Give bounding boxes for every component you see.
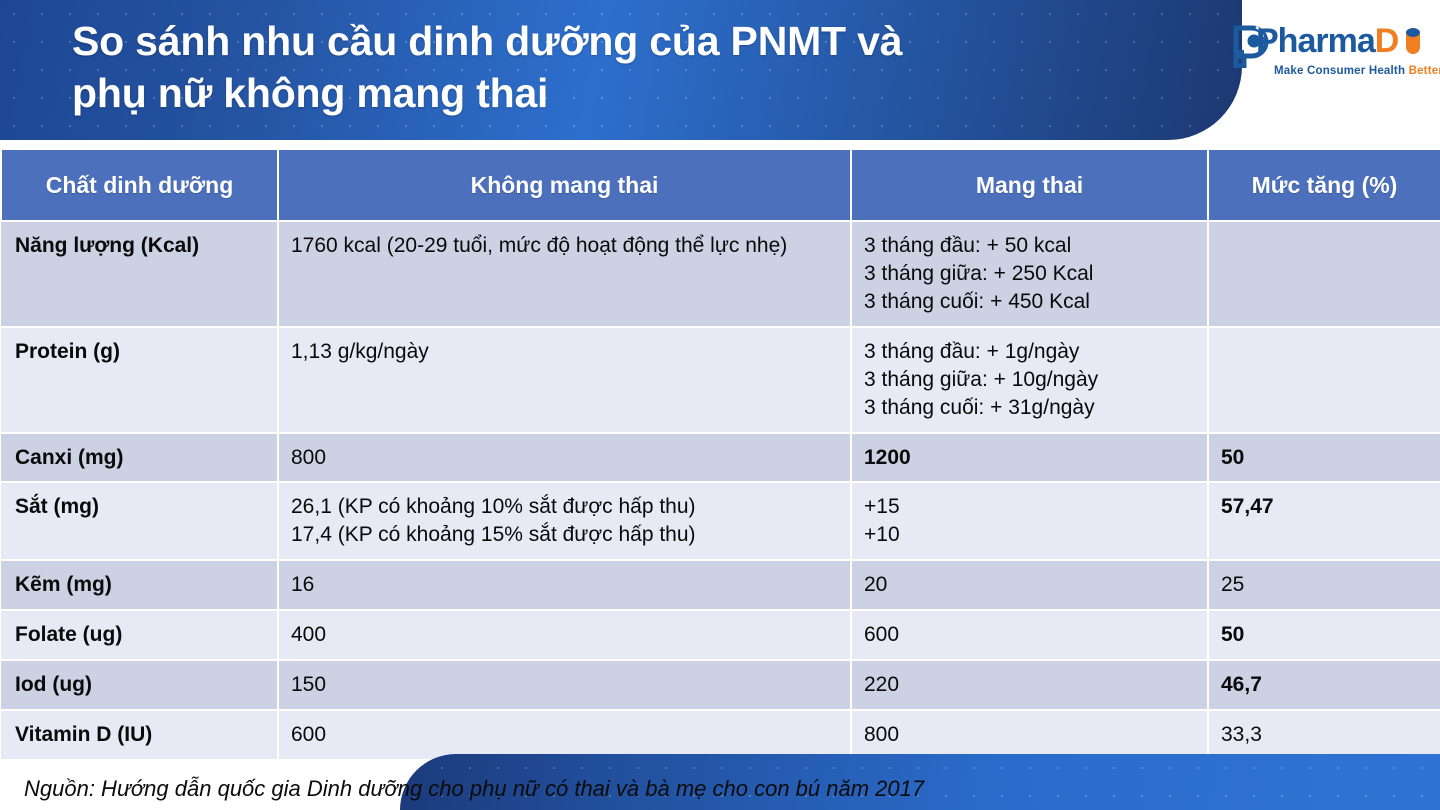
cell-pregnant: 3 tháng đầu: + 1g/ngày3 tháng giữa: + 10… [851, 327, 1208, 433]
table-row: Iod (ug)15022046,7 [1, 660, 1440, 710]
nutrition-comparison-table: Chất dinh dưỡng Không mang thai Mang tha… [0, 148, 1440, 761]
cell-nutrient-name: Sắt (mg) [1, 482, 278, 560]
logo-tagline: Make Consumer Health Better [1274, 65, 1440, 77]
cell-pregnant: +15+10 [851, 482, 1208, 560]
cell-not-pregnant: 600 [278, 710, 851, 760]
logo-tagline-a: Make Consumer Health [1274, 65, 1409, 77]
table-row: Protein (g)1,13 g/kg/ngày3 tháng đầu: + … [1, 327, 1440, 433]
table-row: Kẽm (mg)162025 [1, 560, 1440, 610]
capsule-icon [1404, 26, 1422, 56]
table-row: Năng lượng (Kcal)1760 kcal (20-29 tuổi, … [1, 221, 1440, 327]
logo-word-pharma: Pharma [1256, 22, 1375, 60]
logo-tagline-b: Better [1409, 65, 1440, 77]
cell-pregnant: 600 [851, 610, 1208, 660]
cell-nutrient-name: Năng lượng (Kcal) [1, 221, 278, 327]
cell-increase: 25 [1208, 560, 1440, 610]
cell-not-pregnant: 400 [278, 610, 851, 660]
table-row: Folate (ug)40060050 [1, 610, 1440, 660]
cell-increase: 57,47 [1208, 482, 1440, 560]
cell-nutrient-name: Vitamin D (IU) [1, 710, 278, 760]
cell-not-pregnant: 26,1 (KP có khoảng 10% sắt được hấp thu)… [278, 482, 851, 560]
table-header-row: Chất dinh dưỡng Không mang thai Mang tha… [1, 149, 1440, 221]
cell-pregnant: 1200 [851, 433, 1208, 483]
cell-not-pregnant: 16 [278, 560, 851, 610]
cell-pregnant: 20 [851, 560, 1208, 610]
cell-nutrient-name: Folate (ug) [1, 610, 278, 660]
logo-wordmark: PharmaD [1256, 24, 1398, 58]
cell-not-pregnant: 800 [278, 433, 851, 483]
table-row: Canxi (mg)800120050 [1, 433, 1440, 483]
cell-pregnant: 800 [851, 710, 1208, 760]
brand-logo: PharmaD Make Consumer Health Better [1230, 24, 1418, 98]
column-header-pregnant: Mang thai [851, 149, 1208, 221]
cell-increase [1208, 221, 1440, 327]
cell-increase: 50 [1208, 610, 1440, 660]
cell-not-pregnant: 1760 kcal (20-29 tuổi, mức độ hoạt động … [278, 221, 851, 327]
column-header-increase: Mức tăng (%) [1208, 149, 1440, 221]
logo-word-d: D [1375, 22, 1399, 60]
cell-nutrient-name: Iod (ug) [1, 660, 278, 710]
cell-increase: 33,3 [1208, 710, 1440, 760]
column-header-not-pregnant: Không mang thai [278, 149, 851, 221]
source-note: Nguồn: Hướng dẫn quốc gia Dinh dưỡng cho… [24, 776, 924, 802]
cell-nutrient-name: Canxi (mg) [1, 433, 278, 483]
cell-pregnant: 220 [851, 660, 1208, 710]
cell-increase [1208, 327, 1440, 433]
cell-nutrient-name: Protein (g) [1, 327, 278, 433]
table-row: Sắt (mg)26,1 (KP có khoảng 10% sắt được … [1, 482, 1440, 560]
page-title: So sánh nhu cầu dinh dưỡng của PNMT và p… [72, 16, 1202, 119]
table-body: Năng lượng (Kcal)1760 kcal (20-29 tuổi, … [1, 221, 1440, 760]
title-banner: So sánh nhu cầu dinh dưỡng của PNMT và p… [0, 0, 1242, 140]
column-header-nutrient: Chất dinh dưỡng [1, 149, 278, 221]
cell-nutrient-name: Kẽm (mg) [1, 560, 278, 610]
cell-not-pregnant: 150 [278, 660, 851, 710]
table-row: Vitamin D (IU)60080033,3 [1, 710, 1440, 760]
cell-increase: 46,7 [1208, 660, 1440, 710]
cell-increase: 50 [1208, 433, 1440, 483]
cell-not-pregnant: 1,13 g/kg/ngày [278, 327, 851, 433]
cell-pregnant: 3 tháng đầu: + 50 kcal3 tháng giữa: + 25… [851, 221, 1208, 327]
